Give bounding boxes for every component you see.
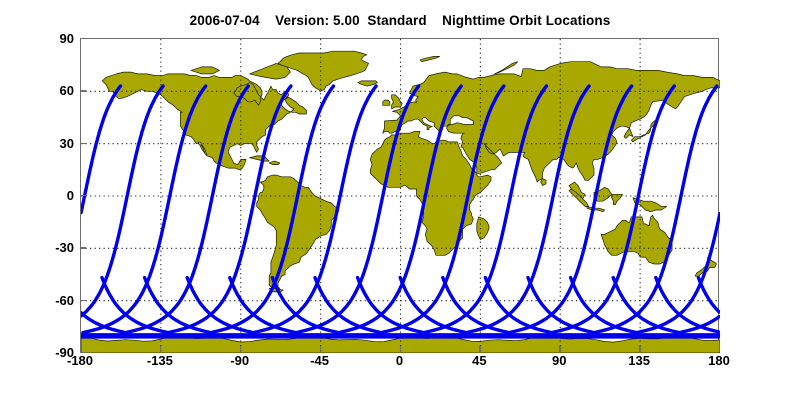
orbit-track-desc-2-seg0	[81, 86, 163, 316]
landmass-victoria	[191, 67, 220, 74]
landmass-cuba	[250, 156, 270, 161]
x-tick-mark-45	[479, 346, 480, 352]
landmass-madagascar	[477, 217, 489, 240]
x-tick-label-135: 135	[599, 354, 679, 367]
landmass-iceland	[358, 81, 378, 86]
x-tick-label--45: -45	[280, 354, 360, 367]
y-tick-label-90: 90	[14, 32, 74, 45]
landmass-svalbard	[420, 56, 440, 61]
x-tick-mark--45	[320, 346, 321, 352]
orbit-track-asc-4-seg0	[698, 278, 719, 312]
landmass-java	[587, 207, 605, 212]
x-tick-mark--180	[80, 346, 81, 352]
orbit-map-figure: 2006-07-04 Version: 5.00 Standard Nightt…	[0, 0, 800, 400]
x-tick-label-90: 90	[519, 354, 599, 367]
y-tick-mark-90	[80, 38, 86, 39]
orbit-track-asc-4-seg1	[81, 313, 125, 333]
y-tick-label-0: 0	[14, 189, 74, 202]
landmass-hispaniola	[269, 161, 280, 165]
y-tick-mark--30	[80, 247, 86, 248]
y-tick-mark-60	[80, 90, 86, 91]
y-tick-mark-0	[80, 195, 86, 196]
orbit-track-desc-1-seg0	[81, 86, 120, 213]
x-tick-label--90: -90	[200, 354, 280, 367]
x-tick-mark--135	[160, 346, 161, 352]
x-tick-mark-135	[639, 346, 640, 352]
map-canvas	[81, 39, 720, 353]
x-tick-mark--90	[240, 346, 241, 352]
x-tick-mark-90	[559, 346, 560, 352]
y-tick-label--60: -60	[14, 294, 74, 307]
y-tick-label-60: 60	[14, 84, 74, 97]
x-tick-label--135: -135	[120, 354, 200, 367]
y-tick-label--30: -30	[14, 241, 74, 254]
x-tick-label--180: -180	[40, 354, 120, 367]
y-tick-mark-30	[80, 143, 86, 144]
landmass-baffin	[250, 63, 291, 79]
landmass-novaya	[495, 62, 518, 74]
x-tick-mark-0	[400, 346, 401, 352]
figure-title: 2006-07-04 Version: 5.00 Standard Nightt…	[0, 13, 800, 28]
landmass-australia	[601, 215, 672, 264]
y-tick-label-30: 30	[14, 137, 74, 150]
plot-area	[80, 38, 719, 352]
y-tick-mark--60	[80, 300, 86, 301]
landmass-sri	[541, 179, 546, 186]
landmass-ireland	[383, 100, 390, 105]
x-tick-label-45: 45	[439, 354, 519, 367]
x-tick-mark-180	[719, 346, 720, 352]
x-tick-label-0: 0	[360, 354, 440, 367]
x-tick-label-180: 180	[679, 354, 759, 367]
